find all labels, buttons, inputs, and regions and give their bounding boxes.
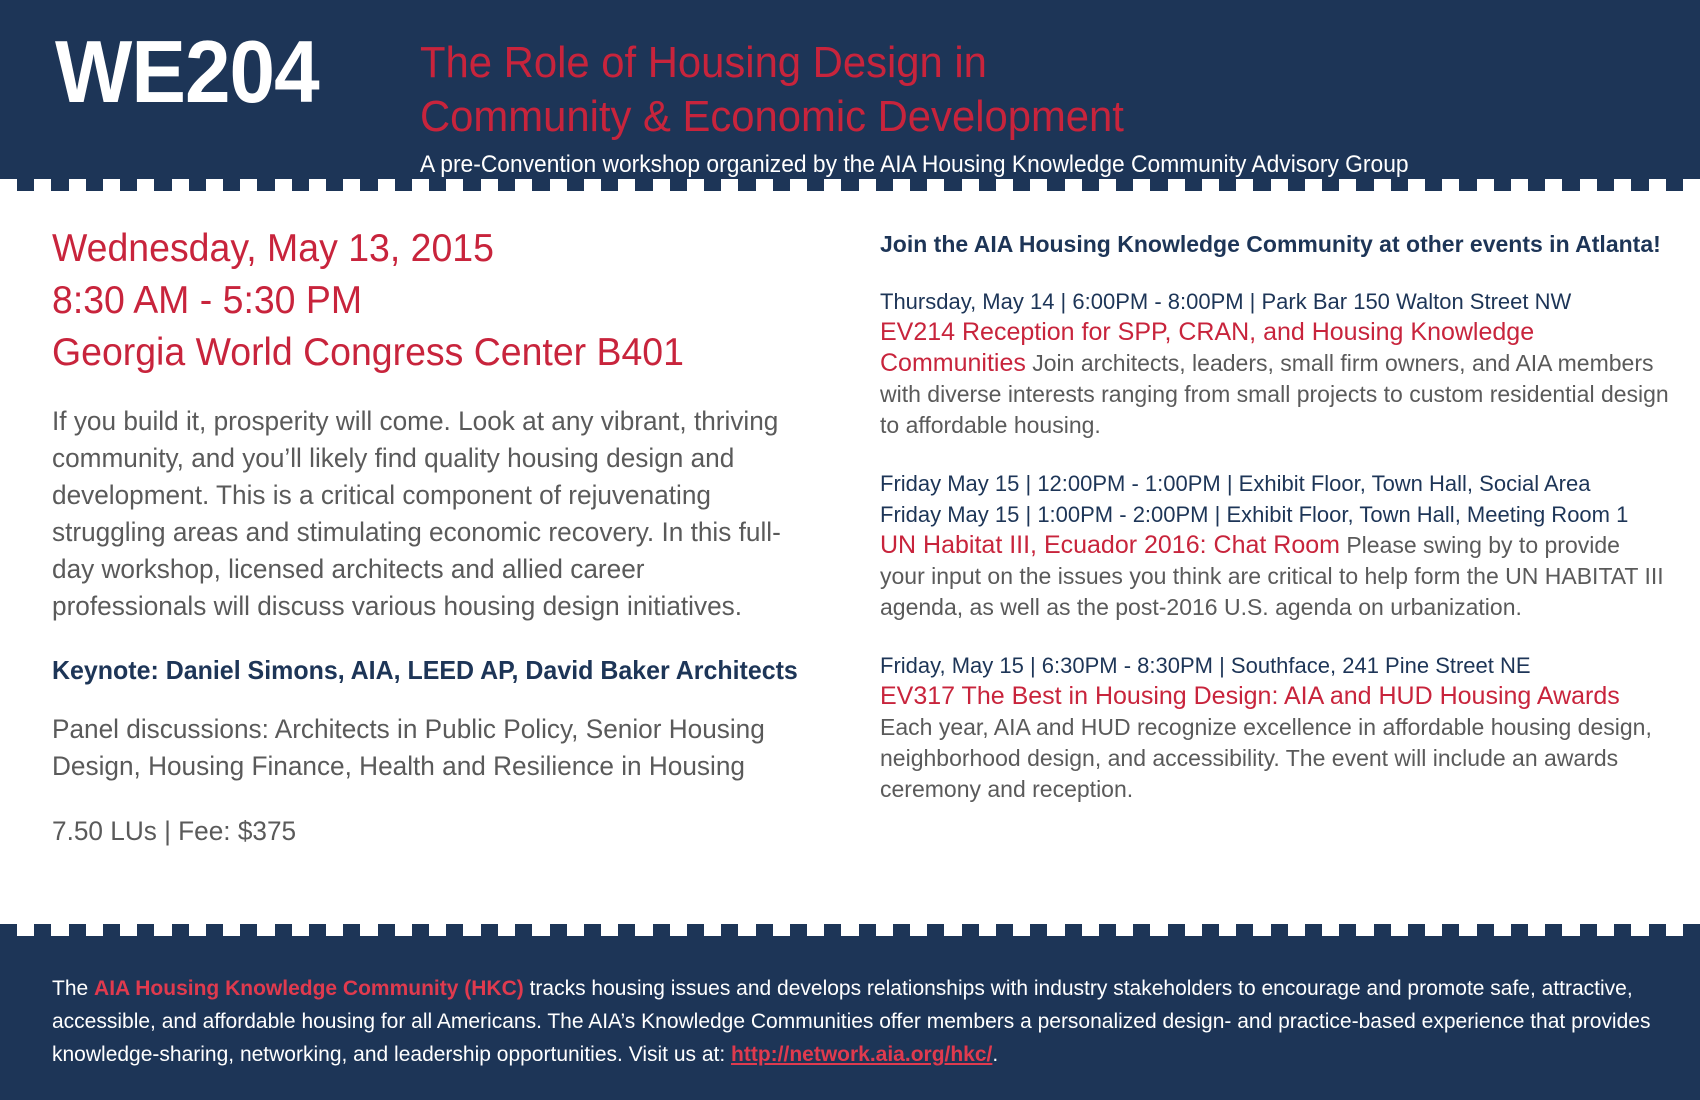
notch-tooth <box>1545 179 1562 191</box>
notch-tooth <box>206 179 223 191</box>
notch-tooth <box>1614 179 1631 191</box>
footer-text-before: The <box>52 977 94 1000</box>
notch-tooth <box>618 179 635 191</box>
notch-tooth <box>927 179 944 191</box>
notch-tooth <box>1374 179 1391 191</box>
notch-tooth <box>412 924 429 936</box>
header-subtitle: A pre-Convention workshop organized by t… <box>420 150 1598 180</box>
notch-tooth <box>1065 924 1082 936</box>
notch-tooth <box>137 924 154 936</box>
course-code: WE204 <box>55 24 319 120</box>
notch-tooth <box>1202 179 1219 191</box>
notch-tooth <box>1649 924 1666 936</box>
notch-tooth <box>481 179 498 191</box>
notch-tooth <box>927 924 944 936</box>
event-when: Thursday, May 14 | 6:00PM - 8:00PM | Par… <box>880 286 1670 317</box>
notch-tooth <box>378 179 395 191</box>
notch-tooth <box>1374 924 1391 936</box>
notch-tooth <box>824 179 841 191</box>
notch-tooth <box>1030 179 1047 191</box>
notch-tooth <box>1442 924 1459 936</box>
notch-tooth <box>275 179 292 191</box>
notch-tooth <box>0 179 17 191</box>
notch-tooth <box>1168 924 1185 936</box>
event-when: Friday May 15 | 12:00PM - 1:00PM | Exhib… <box>880 468 1670 499</box>
notch-tooth <box>1236 924 1253 936</box>
event-body: EV214 Reception for SPP, CRAN, and Housi… <box>880 317 1670 441</box>
notch-tooth <box>446 179 463 191</box>
notch-tooth <box>618 924 635 936</box>
notch-tooth <box>1408 179 1425 191</box>
notch-tooth <box>172 924 189 936</box>
workshop-time: 8:30 AM - 5:30 PM <box>52 275 782 327</box>
panel-discussions: Panel discussions: Architects in Public … <box>52 711 789 785</box>
related-events-heading: Join the AIA Housing Knowledge Community… <box>880 229 1670 259</box>
notch-tooth <box>584 179 601 191</box>
notch-tooth <box>0 924 17 936</box>
related-events-column: Join the AIA Housing Knowledge Community… <box>880 229 1670 805</box>
notch-tooth <box>550 179 567 191</box>
notch-tooth <box>1683 179 1700 191</box>
notch-tooth <box>962 179 979 191</box>
notch-tooth <box>481 924 498 936</box>
notch-tooth <box>69 179 86 191</box>
notch-tooth <box>1511 924 1528 936</box>
notch-tooth <box>1408 924 1425 936</box>
header-notch-strip <box>0 179 1700 191</box>
notch-tooth <box>515 924 532 936</box>
workshop-description: If you build it, prosperity will come. L… <box>52 403 799 625</box>
notch-tooth <box>1545 924 1562 936</box>
notch-tooth <box>893 924 910 936</box>
notch-tooth <box>790 924 807 936</box>
notch-tooth <box>996 924 1013 936</box>
notch-tooth <box>206 924 223 936</box>
notch-tooth <box>1580 924 1597 936</box>
notch-tooth <box>550 924 567 936</box>
keynote-speaker: Keynote: Daniel Simons, AIA, LEED AP, Da… <box>52 653 782 687</box>
notch-tooth <box>172 179 189 191</box>
notch-tooth <box>343 924 360 936</box>
footer-text-end: . <box>992 1043 998 1066</box>
event-when: Friday, May 15 | 6:30PM - 8:30PM | South… <box>880 650 1670 681</box>
notch-tooth <box>1133 179 1150 191</box>
footer-description: The AIA Housing Knowledge Community (HKC… <box>52 972 1652 1071</box>
notch-tooth <box>1339 179 1356 191</box>
event-item: Friday, May 15 | 6:30PM - 8:30PM | South… <box>880 650 1670 805</box>
notch-tooth <box>309 924 326 936</box>
notch-tooth <box>1477 924 1494 936</box>
notch-tooth <box>1649 179 1666 191</box>
hkc-website-link[interactable]: http://network.aia.org/hkc/ <box>731 1043 992 1066</box>
header-title-line-1: The Role of Housing Design in <box>420 36 1598 90</box>
notch-tooth <box>859 179 876 191</box>
notch-tooth <box>1271 179 1288 191</box>
notch-tooth <box>1099 924 1116 936</box>
notch-tooth <box>275 924 292 936</box>
event-item: Friday May 15 | 12:00PM - 1:00PM | Exhib… <box>880 468 1670 623</box>
event-description: Each year, AIA and HUD recognize excelle… <box>880 714 1652 802</box>
event-item: Thursday, May 14 | 6:00PM - 8:00PM | Par… <box>880 286 1670 441</box>
credits-and-fee: 7.50 LUs | Fee: $375 <box>52 813 789 849</box>
header-title-line-2: Community & Economic Development <box>420 90 1598 144</box>
event-body: EV317 The Best in Housing Design: AIA an… <box>880 681 1670 805</box>
notch-tooth <box>996 179 1013 191</box>
event-when: Friday May 15 | 1:00PM - 2:00PM | Exhibi… <box>880 499 1670 530</box>
related-events-list: Thursday, May 14 | 6:00PM - 8:00PM | Par… <box>880 286 1670 805</box>
notch-tooth <box>103 924 120 936</box>
notch-tooth <box>1614 924 1631 936</box>
notch-tooth <box>584 924 601 936</box>
notch-tooth <box>378 924 395 936</box>
notch-tooth <box>824 924 841 936</box>
notch-tooth <box>790 179 807 191</box>
notch-tooth <box>1339 924 1356 936</box>
notch-tooth <box>721 924 738 936</box>
main-content: Wednesday, May 13, 2015 8:30 AM - 5:30 P… <box>0 191 1700 936</box>
hkc-name: AIA Housing Knowledge Community (HKC) <box>94 977 524 1000</box>
event-body: UN Habitat III, Ecuador 2016: Chat Room … <box>880 530 1670 623</box>
notch-tooth <box>1305 179 1322 191</box>
notch-tooth <box>653 924 670 936</box>
notch-tooth <box>1030 924 1047 936</box>
notch-tooth <box>721 179 738 191</box>
header-title-block: The Role of Housing Design in Community … <box>420 36 1660 180</box>
notch-tooth <box>962 924 979 936</box>
footer-notch-strip <box>0 924 1700 936</box>
notch-tooth <box>343 179 360 191</box>
notch-tooth <box>893 179 910 191</box>
notch-tooth <box>137 179 154 191</box>
header-banner: WE204 The Role of Housing Design in Comm… <box>0 0 1700 191</box>
notch-tooth <box>687 924 704 936</box>
event-title: EV317 The Best in Housing Design: AIA an… <box>880 682 1620 710</box>
notch-tooth <box>756 179 773 191</box>
footer-banner: The AIA Housing Knowledge Community (HKC… <box>0 936 1700 1100</box>
notch-tooth <box>859 924 876 936</box>
notch-tooth <box>309 179 326 191</box>
notch-tooth <box>1305 924 1322 936</box>
notch-tooth <box>1580 179 1597 191</box>
notch-tooth <box>1236 179 1253 191</box>
notch-tooth <box>1683 924 1700 936</box>
workshop-date: Wednesday, May 13, 2015 <box>52 223 782 275</box>
notch-tooth <box>240 179 257 191</box>
notch-tooth <box>756 924 773 936</box>
notch-tooth <box>1065 179 1082 191</box>
workshop-venue: Georgia World Congress Center B401 <box>52 327 782 379</box>
notch-tooth <box>687 179 704 191</box>
notch-tooth <box>515 179 532 191</box>
workshop-details-column: Wednesday, May 13, 2015 8:30 AM - 5:30 P… <box>52 223 812 849</box>
notch-tooth <box>1442 179 1459 191</box>
notch-tooth <box>1133 924 1150 936</box>
notch-tooth <box>1168 179 1185 191</box>
notch-tooth <box>34 924 51 936</box>
notch-tooth <box>1099 179 1116 191</box>
event-title: UN Habitat III, Ecuador 2016: Chat Room <box>880 531 1340 559</box>
notch-tooth <box>446 924 463 936</box>
notch-tooth <box>240 924 257 936</box>
notch-tooth <box>34 179 51 191</box>
notch-tooth <box>1511 179 1528 191</box>
notch-tooth <box>69 924 86 936</box>
notch-tooth <box>103 179 120 191</box>
notch-tooth <box>1202 924 1219 936</box>
notch-tooth <box>1477 179 1494 191</box>
notch-tooth <box>653 179 670 191</box>
notch-tooth <box>1271 924 1288 936</box>
notch-tooth <box>412 179 429 191</box>
